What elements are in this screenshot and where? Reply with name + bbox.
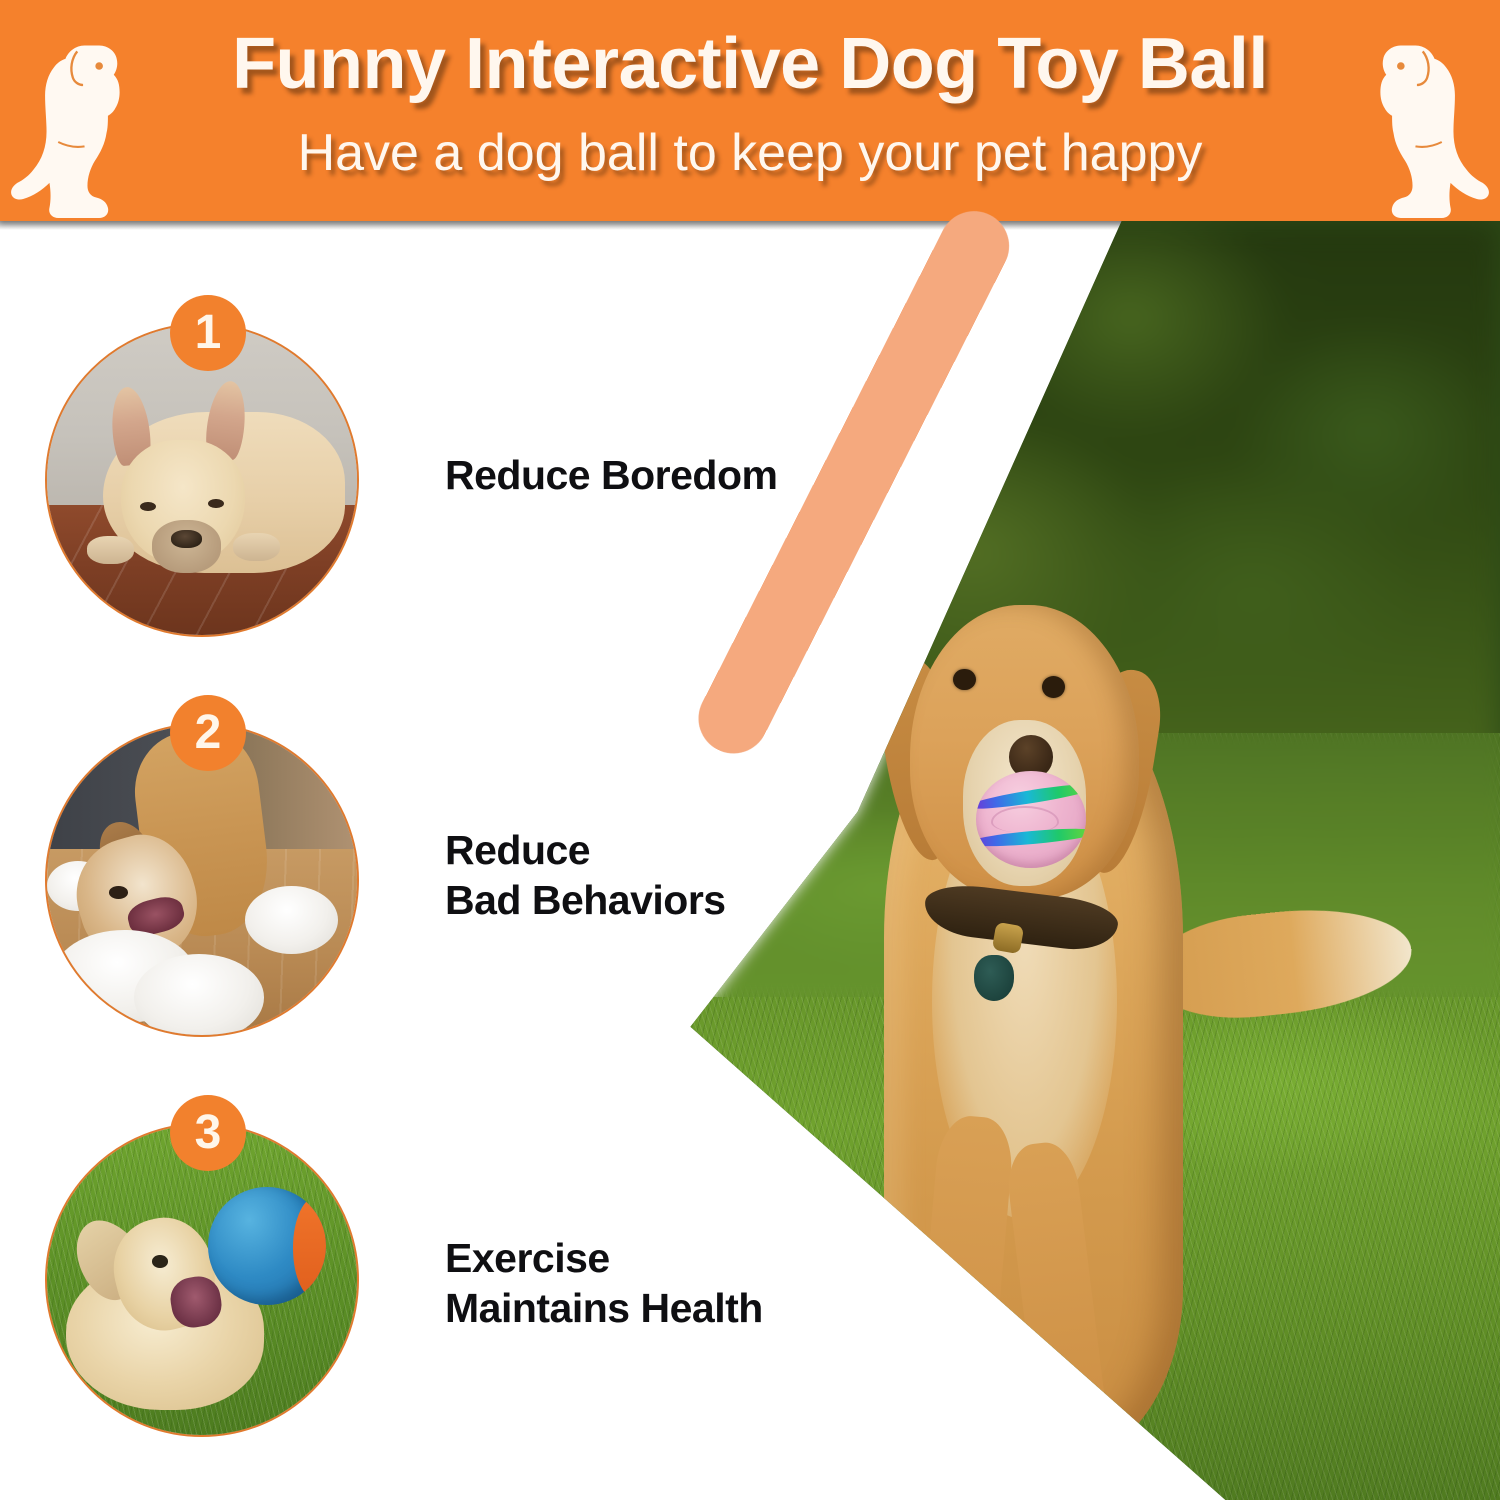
dog-sitting-silhouette-icon (1358, 28, 1500, 218)
feature-number-badge: 3 (170, 1095, 246, 1171)
feature-label: Exercise Maintains Health (445, 1233, 865, 1333)
hero-led-toy-ball (976, 771, 1087, 868)
feature-label: Reduce Bad Behaviors (445, 825, 865, 925)
feature-number-badge: 2 (170, 695, 246, 771)
feature-label: Reduce Boredom (445, 450, 865, 500)
product-infographic: Funny Interactive Dog Toy Ball Have a do… (0, 0, 1500, 1500)
photo-dog-destroying-pillow (47, 725, 357, 1035)
page-subtitle: Have a dog ball to keep your pet happy (0, 120, 1500, 186)
hero-dog-paw-left (915, 1436, 1003, 1500)
header-banner: Funny Interactive Dog Toy Ball Have a do… (0, 0, 1500, 221)
hero-dog-eye-left (953, 669, 976, 691)
feature-number-badge: 1 (170, 295, 246, 371)
photo-bored-bulldog (47, 325, 357, 635)
hero-dog-paw-right (1020, 1455, 1104, 1500)
hero-dog-id-tag (974, 955, 1014, 1001)
photo-dog-catching-ball (47, 1125, 357, 1435)
page-title: Funny Interactive Dog Toy Ball (0, 22, 1500, 106)
